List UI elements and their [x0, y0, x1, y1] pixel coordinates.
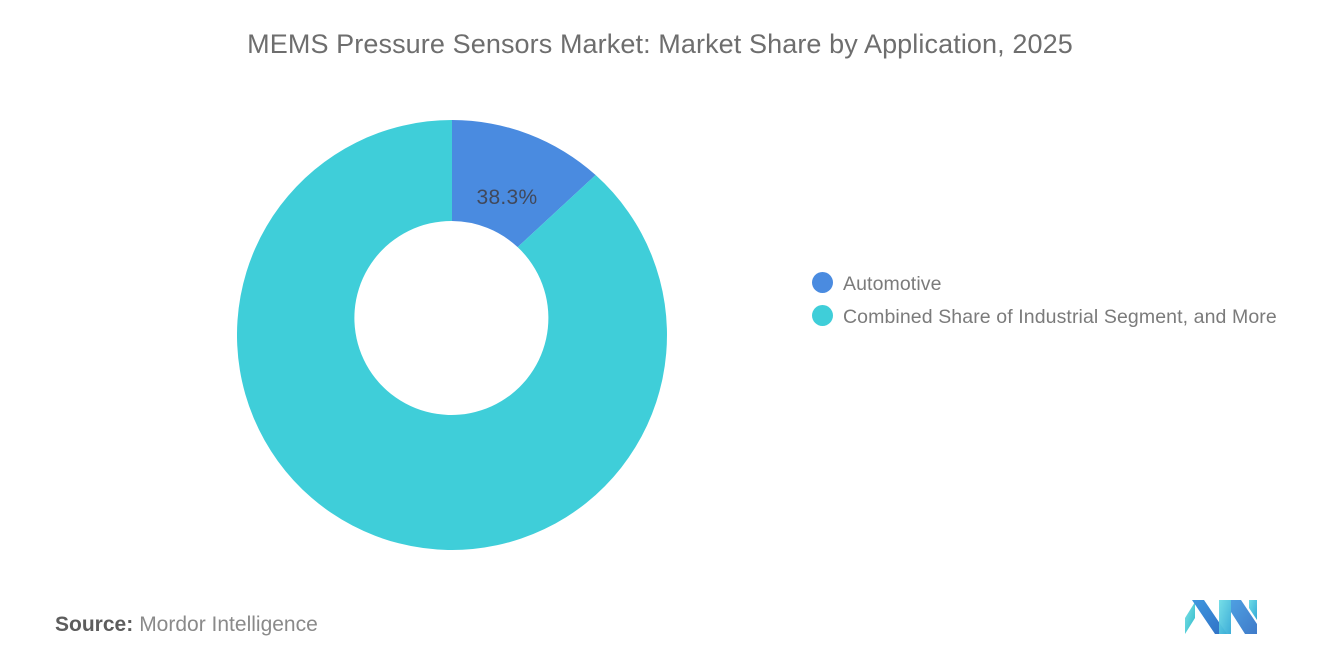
- source-value: Mordor Intelligence: [139, 613, 318, 636]
- chart-title: MEMS Pressure Sensors Market: Market Sha…: [0, 29, 1320, 60]
- slice-label-automotive: 38.3%: [452, 186, 562, 210]
- legend-label-automotive: Automotive: [843, 270, 942, 299]
- donut-chart: [237, 120, 667, 550]
- donut-chart-svg: [237, 120, 667, 550]
- legend-swatch-icon-automotive: [812, 272, 833, 293]
- donut-slice-combined-share[interactable]: [237, 120, 667, 550]
- chart-legend: Automotive Combined Share of Industrial …: [812, 270, 1302, 336]
- legend-label-combined-share: Combined Share of Industrial Segment, an…: [843, 303, 1277, 332]
- legend-item-automotive[interactable]: Automotive: [812, 270, 1302, 299]
- mordor-intelligence-logo-icon: [1183, 596, 1259, 638]
- source-line: Source:Mordor Intelligence: [55, 613, 318, 637]
- logo-mark-icon: [1183, 596, 1259, 638]
- legend-swatch-icon-combined-share: [812, 305, 833, 326]
- legend-item-combined-share[interactable]: Combined Share of Industrial Segment, an…: [812, 303, 1302, 332]
- source-label: Source:: [55, 613, 133, 636]
